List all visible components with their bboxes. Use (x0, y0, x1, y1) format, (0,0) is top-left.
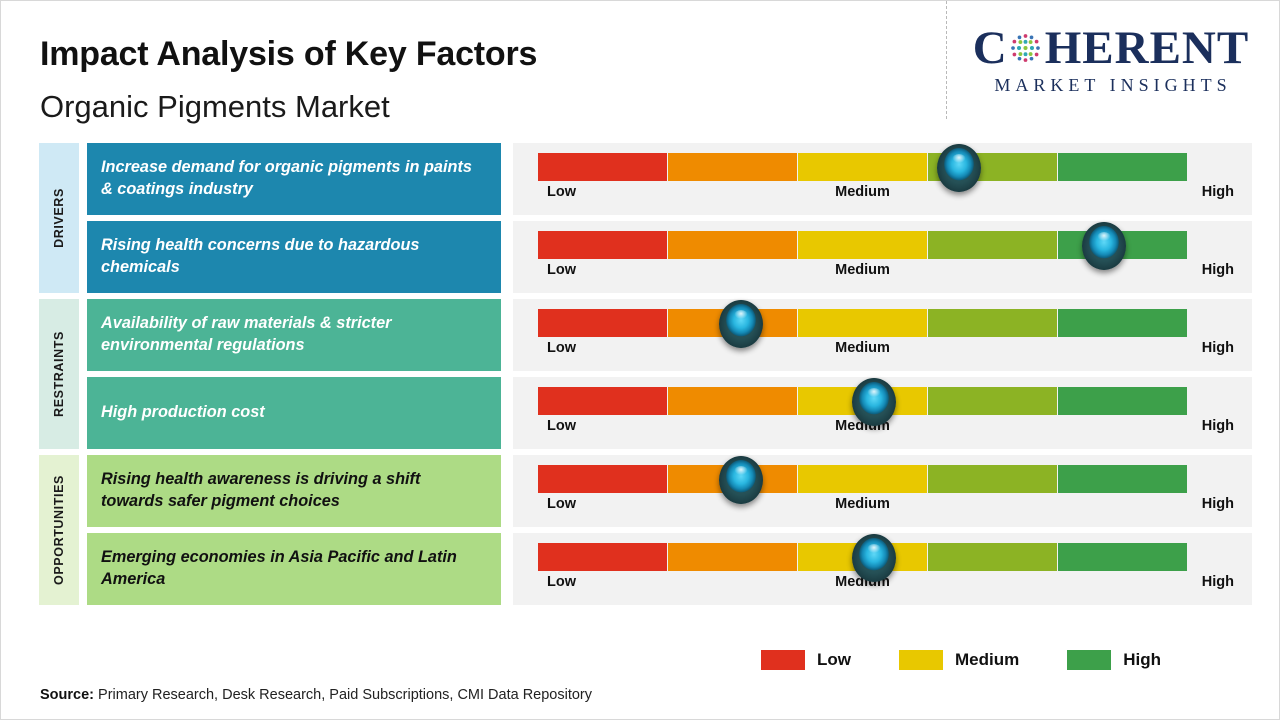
factor-text: Rising health awareness is driving a shi… (101, 469, 487, 513)
legend-label: Low (817, 650, 851, 670)
category-tab-restraints: RESTRAINTS (39, 299, 79, 449)
factor-text: Emerging economies in Asia Pacific and L… (101, 547, 487, 591)
impact-marker[interactable] (852, 534, 896, 582)
gauge-label-med: Medium (538, 340, 1187, 356)
impact-marker[interactable] (719, 300, 763, 348)
page-title: Impact Analysis of Key Factors (40, 35, 537, 74)
legend-swatch (761, 650, 805, 670)
gauge-label-high: High (1202, 340, 1234, 356)
category-tab-drivers: DRIVERS (39, 143, 79, 293)
legend-item: Low (761, 650, 851, 670)
gauge-segment-4 (928, 231, 1058, 259)
gauge-segment-3 (798, 153, 928, 181)
legend-item: Medium (899, 650, 1019, 670)
gauge-scale-labels: LowMediumHigh (538, 184, 1187, 208)
gauge-label-high: High (1202, 262, 1234, 278)
factor-box[interactable]: Emerging economies in Asia Pacific and L… (87, 533, 501, 605)
factor-text: Availability of raw materials & stricter… (101, 313, 487, 357)
logo-tagline: MARKET INSIGHTS (961, 75, 1261, 96)
impact-gauge[interactable]: LowMediumHigh (513, 299, 1252, 371)
gauge-segment-4 (928, 309, 1058, 337)
factor-box[interactable]: Rising health concerns due to hazardous … (87, 221, 501, 293)
gauge-scale-labels: LowMediumHigh (538, 262, 1187, 286)
gauge-label-high: High (1202, 496, 1234, 512)
impact-gauge[interactable]: LowMediumHigh (513, 377, 1252, 449)
logo-wordmark: HERENT (1045, 25, 1250, 72)
legend-item: High (1067, 650, 1161, 670)
factor-box[interactable]: High production cost (87, 377, 501, 449)
impact-gauge[interactable]: LowMediumHigh (513, 455, 1252, 527)
gauge-scale-bar (538, 465, 1187, 493)
factor-text: Rising health concerns due to hazardous … (101, 235, 487, 279)
company-logo: C (961, 23, 1261, 109)
gauge-label-high: High (1202, 418, 1234, 434)
source-footer: Source: Primary Research, Desk Research,… (40, 687, 592, 703)
source-text: Primary Research, Desk Research, Paid Su… (98, 687, 592, 703)
gauge-segment-2 (668, 231, 798, 259)
globe-dots-icon (1007, 30, 1044, 67)
impact-gauge[interactable]: LowMediumHigh (513, 221, 1252, 293)
impact-gauge[interactable]: LowMediumHigh (513, 533, 1252, 605)
slide-canvas: Impact Analysis of Key Factors Organic P… (0, 0, 1280, 720)
factor-text: Increase demand for organic pigments in … (101, 157, 487, 201)
gauge-scale-bar (538, 309, 1187, 337)
gauge-segment-1 (538, 543, 668, 571)
legend-swatch (899, 650, 943, 670)
gauge-label-high: High (1202, 184, 1234, 200)
impact-marker[interactable] (937, 144, 981, 192)
gauge-segment-5 (1058, 309, 1187, 337)
category-tab-label: RESTRAINTS (52, 331, 66, 417)
gauge-segment-1 (538, 465, 668, 493)
factor-text: High production cost (101, 402, 265, 424)
gauge-segment-5 (1058, 465, 1187, 493)
impact-marker[interactable] (852, 378, 896, 426)
gauge-scale-labels: LowMediumHigh (538, 340, 1187, 364)
legend-swatch (1067, 650, 1111, 670)
gauge-segment-4 (928, 387, 1058, 415)
factor-box[interactable]: Increase demand for organic pigments in … (87, 143, 501, 215)
legend: LowMediumHigh (761, 646, 1209, 674)
category-tab-label: OPPORTUNITIES (52, 475, 66, 585)
logo-letter-c: C (973, 25, 1007, 72)
gauge-segment-1 (538, 309, 668, 337)
gauge-label-high: High (1202, 574, 1234, 590)
gauge-segment-1 (538, 387, 668, 415)
gauge-label-med: Medium (538, 496, 1187, 512)
impact-marker[interactable] (1082, 222, 1126, 270)
gauge-segment-5 (1058, 387, 1187, 415)
legend-label: High (1123, 650, 1161, 670)
gauge-segment-3 (798, 231, 928, 259)
category-tab-opportunities: OPPORTUNITIES (39, 455, 79, 605)
gauge-segment-2 (668, 387, 798, 415)
legend-label: Medium (955, 650, 1019, 670)
gauge-segment-2 (668, 153, 798, 181)
gauge-segment-5 (1058, 543, 1187, 571)
gauge-segment-5 (1058, 153, 1187, 181)
impact-gauge[interactable]: LowMediumHigh (513, 143, 1252, 215)
gauge-scale-labels: LowMediumHigh (538, 496, 1187, 520)
page-subtitle: Organic Pigments Market (40, 89, 390, 125)
gauge-segment-1 (538, 231, 668, 259)
source-label: Source: (40, 687, 94, 703)
gauge-segment-3 (798, 309, 928, 337)
gauge-segment-4 (928, 543, 1058, 571)
impact-marker[interactable] (719, 456, 763, 504)
gauge-segment-4 (928, 465, 1058, 493)
gauge-scale-bar (538, 153, 1187, 181)
gauge-segment-3 (798, 465, 928, 493)
gauge-segment-2 (668, 543, 798, 571)
category-tab-label: DRIVERS (52, 188, 66, 248)
factor-box[interactable]: Availability of raw materials & stricter… (87, 299, 501, 371)
gauge-label-med: Medium (538, 184, 1187, 200)
gauge-segment-1 (538, 153, 668, 181)
logo-divider (946, 1, 947, 119)
factor-box[interactable]: Rising health awareness is driving a shi… (87, 455, 501, 527)
